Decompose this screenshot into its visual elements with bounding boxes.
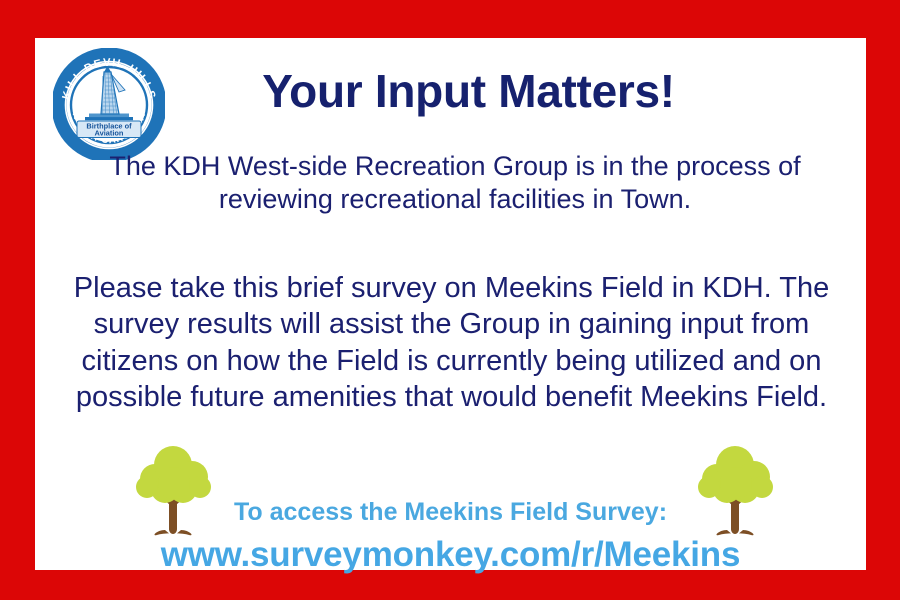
survey-access-label: To access the Meekins Field Survey: — [35, 498, 866, 527]
survey-description-paragraph: Please take this brief survey on Meekins… — [49, 270, 854, 415]
svg-text:Aviation: Aviation — [95, 129, 124, 138]
flyer-white-panel: KILL DEVIL HILLS NORTH CAROLINA — [35, 38, 866, 570]
footer-section: To access the Meekins Field Survey: www.… — [35, 423, 866, 570]
intro-paragraph: The KDH West-side Recreation Group is in… — [95, 150, 815, 216]
survey-url-link[interactable]: www.surveymonkey.com/r/Meekins — [35, 535, 866, 575]
page-title: Your Input Matters! — [35, 64, 866, 118]
flyer-red-border: KILL DEVIL HILLS NORTH CAROLINA — [0, 0, 900, 600]
